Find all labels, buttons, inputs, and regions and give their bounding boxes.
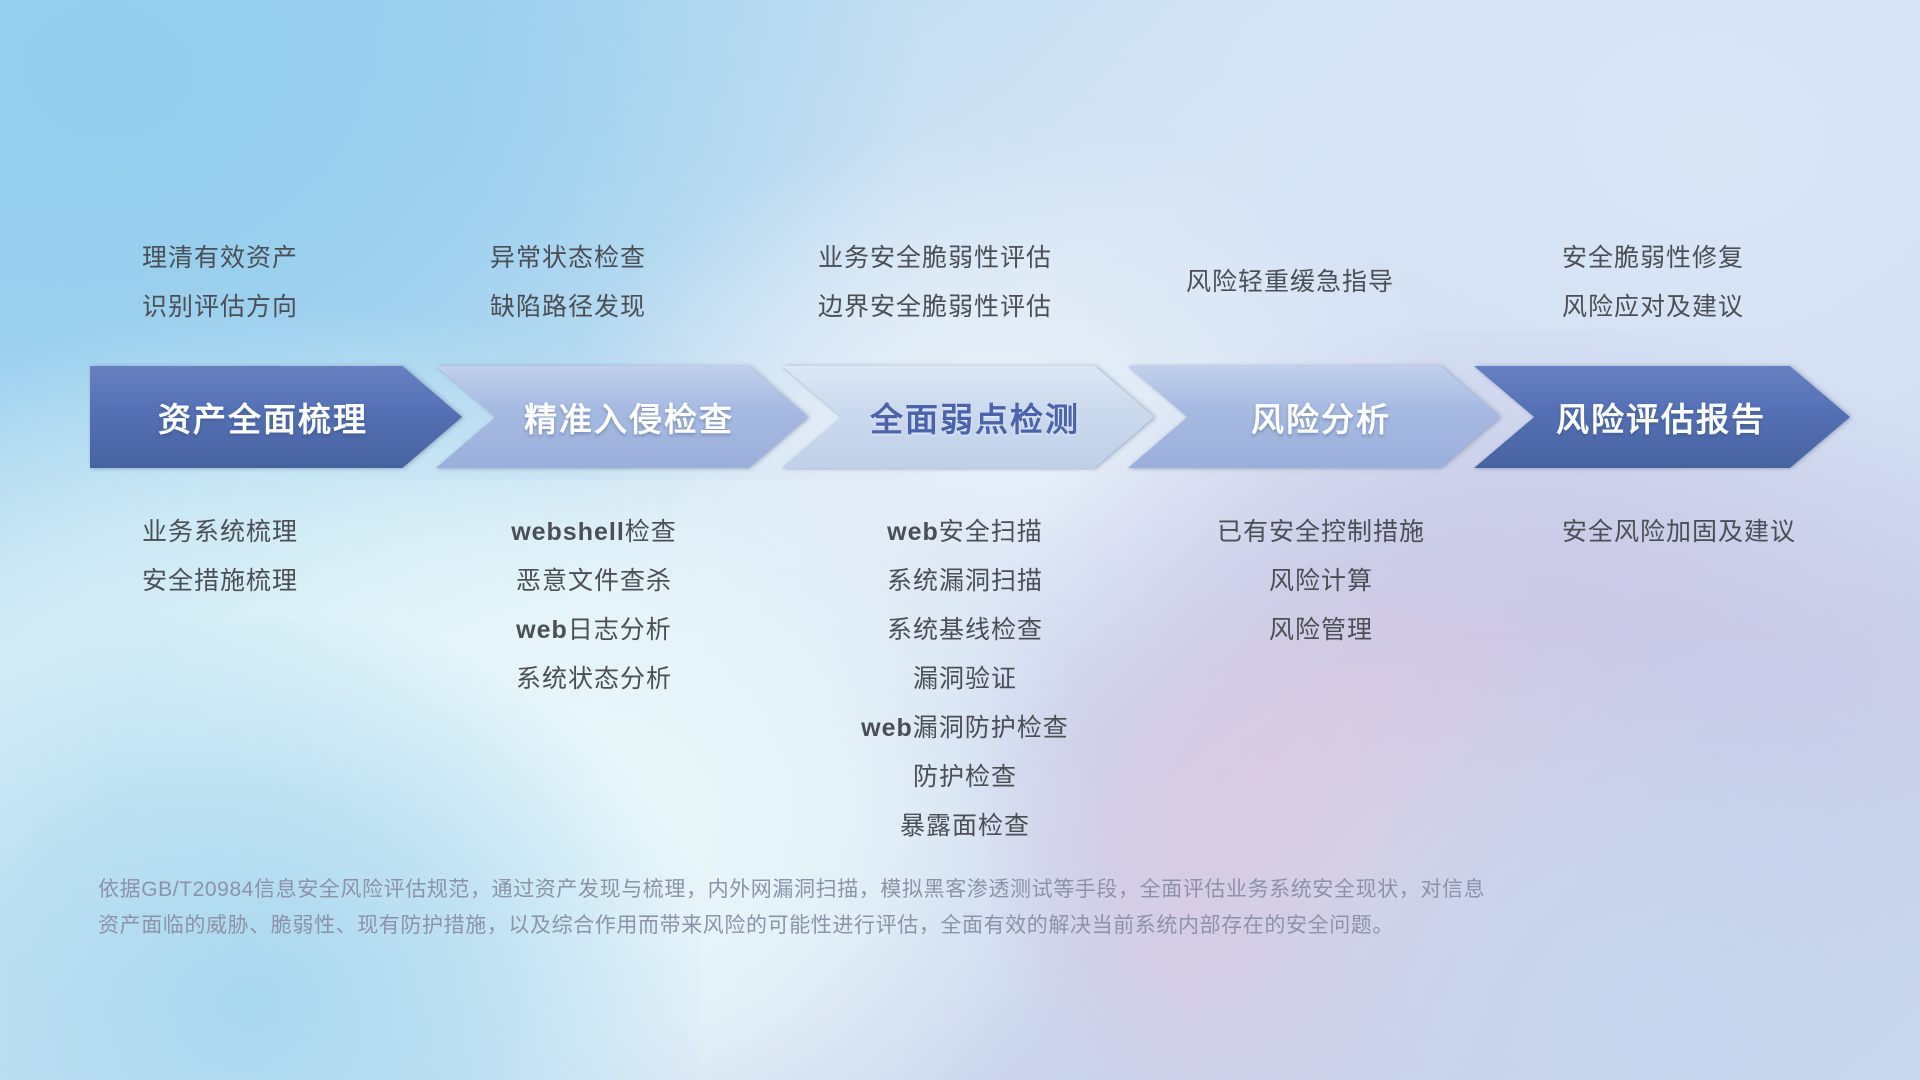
stage-4-bottom-item-2: 风险管理	[1196, 606, 1446, 655]
stage-4-label: 风险分析	[1128, 393, 1500, 441]
process-chevron-band: 资产全面梳理 精准入侵检查	[90, 366, 1850, 468]
stage-4-bottom-item-1: 风险计算	[1196, 557, 1446, 606]
footer-line-1: 依据GB/T20984信息安全风险评估规范，通过资产发现与梳理，内外网漏洞扫描，…	[98, 872, 1628, 908]
stage-2-bottom-item-0: webshell检查	[474, 508, 714, 557]
stage-5-top-item-0: 安全脆弱性修复	[1562, 234, 1744, 283]
stage-2-bottom-item-3: 系统状态分析	[474, 655, 714, 704]
stage-2-top-item-0: 异常状态检查	[490, 234, 646, 283]
stage-chevron-intrusion-check[interactable]: 精准入侵检查	[436, 366, 808, 468]
stage-3-top-labels: 业务安全脆弱性评估 边界安全脆弱性评估	[818, 234, 1052, 332]
stage-3-bottom-item-1: 系统漏洞扫描	[800, 557, 1130, 606]
footer-line-2: 资产面临的威胁、脆弱性、现有防护措施，以及综合作用而带来风险的可能性进行评估，全…	[98, 908, 1628, 944]
stage-3-top-item-1: 边界安全脆弱性评估	[818, 283, 1052, 332]
stage-5-top-labels: 安全脆弱性修复 风险应对及建议	[1562, 234, 1744, 332]
stage-4-top-item-0: 风险轻重缓急指导	[1186, 258, 1394, 307]
stage-1-label: 资产全面梳理	[90, 393, 462, 441]
stage-chevron-weakness-detect[interactable]: 全面弱点检测	[782, 366, 1154, 468]
stage-3-bottom-item-5: 防护检查	[800, 753, 1130, 802]
stage-2-top-labels: 异常状态检查 缺陷路径发现	[490, 234, 646, 332]
stage-3-bottom-item-6: 暴露面检查	[800, 802, 1130, 851]
stage-2-label: 精准入侵检查	[436, 393, 808, 441]
stage-5-label: 风险评估报告	[1474, 393, 1850, 441]
stage-chevron-risk-analysis[interactable]: 风险分析	[1128, 366, 1500, 468]
stage-1-top-item-0: 理清有效资产	[142, 234, 298, 283]
stage-chevron-resource-review[interactable]: 资产全面梳理	[90, 366, 462, 468]
stage-chevron-risk-report[interactable]: 风险评估报告	[1474, 366, 1850, 468]
stage-3-bottom-labels: web安全扫描 系统漏洞扫描 系统基线检查 漏洞验证 web漏洞防护检查 防护检…	[800, 508, 1130, 851]
stage-3-bottom-item-2: 系统基线检查	[800, 606, 1130, 655]
stage-1-top-labels: 理清有效资产 识别评估方向	[142, 234, 298, 332]
stage-4-bottom-labels: 已有安全控制措施 风险计算 风险管理	[1196, 508, 1446, 655]
stage-2-bottom-item-2: web日志分析	[474, 606, 714, 655]
stage-1-top-item-1: 识别评估方向	[142, 283, 298, 332]
stage-5-top-item-1: 风险应对及建议	[1562, 283, 1744, 332]
footer-description: 依据GB/T20984信息安全风险评估规范，通过资产发现与梳理，内外网漏洞扫描，…	[98, 872, 1628, 944]
stage-3-bottom-item-0: web安全扫描	[800, 508, 1130, 557]
stage-2-bottom-labels: webshell检查 恶意文件查杀 web日志分析 系统状态分析	[474, 508, 714, 704]
stage-3-top-item-0: 业务安全脆弱性评估	[818, 234, 1052, 283]
stage-5-bottom-labels: 安全风险加固及建议	[1562, 508, 1796, 557]
stage-3-bottom-item-4: web漏洞防护检查	[800, 704, 1130, 753]
stage-2-bottom-item-1: 恶意文件查杀	[474, 557, 714, 606]
stage-4-bottom-item-0: 已有安全控制措施	[1196, 508, 1446, 557]
stage-4-top-labels: 风险轻重缓急指导	[1186, 258, 1394, 307]
stage-1-bottom-labels: 业务系统梳理 安全措施梳理	[142, 508, 298, 606]
stage-1-bottom-item-0: 业务系统梳理	[142, 508, 298, 557]
stage-1-bottom-item-1: 安全措施梳理	[142, 557, 298, 606]
stage-5-bottom-item-0: 安全风险加固及建议	[1562, 508, 1796, 557]
stage-3-bottom-item-3: 漏洞验证	[800, 655, 1130, 704]
slide-content: 理清有效资产 识别评估方向 异常状态检查 缺陷路径发现 业务安全脆弱性评估 边界…	[0, 0, 1920, 1080]
stage-3-label: 全面弱点检测	[782, 393, 1154, 441]
stage-2-top-item-1: 缺陷路径发现	[490, 283, 646, 332]
